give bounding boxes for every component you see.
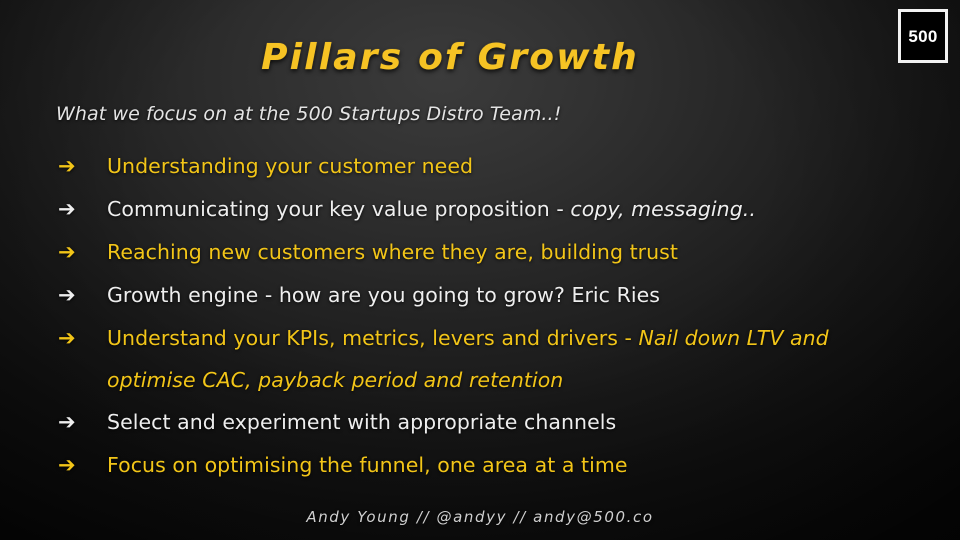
bullet-text-emphasis: Nail down LTV and — [639, 326, 829, 350]
bullet-item: ➔Growth engine - how are you going to gr… — [56, 279, 924, 313]
bullet-text: Reaching new customers where they are, b… — [107, 236, 924, 269]
bullet-item: ➔Understanding your customer need — [56, 150, 924, 184]
bullet-text: Select and experiment with appropriate c… — [107, 406, 924, 439]
arrow-right-icon: ➔ — [56, 322, 107, 355]
arrow-right-icon: ➔ — [56, 279, 107, 312]
footer-credits: Andy Young // @andyy // andy@500.co — [0, 508, 960, 526]
bullet-text-continuation: optimise CAC, payback period and retenti… — [107, 364, 924, 397]
bullet-item: ➔Understand your KPIs, metrics, levers a… — [56, 322, 924, 397]
arrow-right-icon: ➔ — [56, 150, 107, 183]
brand-logo-500: 500 — [898, 9, 948, 63]
bullet-text-main: Select and experiment with appropriate c… — [107, 410, 616, 434]
arrow-right-icon: ➔ — [56, 406, 107, 439]
arrow-right-icon: ➔ — [56, 449, 107, 482]
bullet-text-main: Reaching new customers where they are, b… — [107, 240, 678, 264]
bullet-text: Communicating your key value proposition… — [107, 193, 924, 226]
page-title: Pillars of Growth — [0, 37, 900, 78]
page-subtitle: What we focus on at the 500 Startups Dis… — [56, 103, 561, 125]
bullet-text-main: Growth engine - how are you going to gro… — [107, 283, 660, 307]
arrow-right-icon: ➔ — [56, 193, 107, 226]
bullet-text: Growth engine - how are you going to gro… — [107, 279, 924, 312]
slide-canvas: 500 Pillars of Growth What we focus on a… — [0, 0, 960, 540]
arrow-right-icon: ➔ — [56, 236, 107, 269]
bullet-text-main: Understanding your customer need — [107, 154, 473, 178]
bullet-text-main: Understand your KPIs, metrics, levers an… — [107, 326, 639, 350]
bullet-item: ➔Communicating your key value propositio… — [56, 193, 924, 227]
bullet-item: ➔Reaching new customers where they are, … — [56, 236, 924, 270]
bullet-list: ➔Understanding your customer need➔Commun… — [56, 150, 924, 492]
bullet-text: Focus on optimising the funnel, one area… — [107, 449, 924, 482]
bullet-item: ➔Select and experiment with appropriate … — [56, 406, 924, 440]
bullet-text-main: Communicating your key value proposition… — [107, 197, 570, 221]
bullet-text-main: Focus on optimising the funnel, one area… — [107, 453, 628, 477]
bullet-text: Understand your KPIs, metrics, levers an… — [107, 322, 924, 397]
bullet-text: Understanding your customer need — [107, 150, 924, 183]
bullet-item: ➔Focus on optimising the funnel, one are… — [56, 449, 924, 483]
bullet-text-emphasis: copy, messaging.. — [570, 197, 756, 221]
brand-logo-label: 500 — [908, 28, 937, 45]
